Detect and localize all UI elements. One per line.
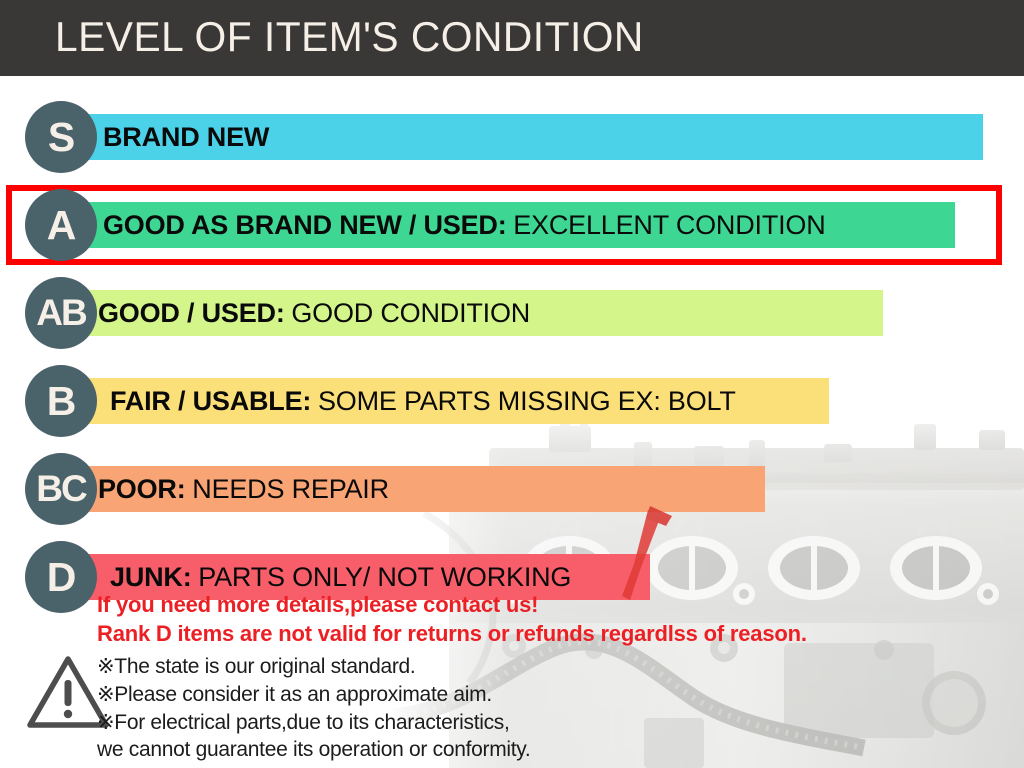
- disclaimer-line-2: ※Please consider it as an approximate ai…: [97, 682, 492, 707]
- page-title: LEVEL OF ITEM'S CONDITION: [55, 13, 644, 61]
- rank-label-b: FAIR / USABLE:SOME PARTS MISSING EX: BOL…: [110, 378, 736, 424]
- header-bar: LEVEL OF ITEM'S CONDITION: [0, 0, 1024, 76]
- contact-note-line-2: Rank D items are not valid for returns o…: [97, 621, 807, 647]
- rank-row-b[interactable]: B FAIR / USABLE:SOME PARTS MISSING EX: B…: [0, 365, 1024, 437]
- rank-label-s: BRAND NEW: [103, 114, 276, 160]
- rank-badge-bc: BC: [25, 453, 97, 525]
- rank-row-s[interactable]: S BRAND NEW: [0, 101, 1024, 173]
- rank-rest-a: EXCELLENT CONDITION: [513, 210, 825, 241]
- rank-label-bc: POOR:NEEDS REPAIR: [98, 466, 389, 512]
- footer-notes: If you need more details,please contact …: [0, 592, 1024, 768]
- rank-lead-s: BRAND NEW: [103, 122, 269, 153]
- rank-row-ab[interactable]: AB GOOD / USED:GOOD CONDITION: [0, 277, 1024, 349]
- contact-note-line-1: If you need more details,please contact …: [97, 592, 538, 618]
- rank-badge-b: B: [25, 365, 97, 437]
- disclaimer-line-3: ※For electrical parts,due to its charact…: [97, 710, 510, 735]
- rank-rest-ab: GOOD CONDITION: [291, 298, 530, 329]
- rank-rest-bc: NEEDS REPAIR: [192, 474, 389, 505]
- rank-lead-ab: GOOD / USED:: [98, 298, 285, 329]
- rank-label-ab: GOOD / USED:GOOD CONDITION: [98, 290, 530, 336]
- rank-row-a[interactable]: A GOOD AS BRAND NEW / USED:EXCELLENT CON…: [0, 189, 1024, 261]
- rank-row-bc[interactable]: BC POOR:NEEDS REPAIR: [0, 453, 1024, 525]
- disclaimer-line-1: ※The state is our original standard.: [97, 654, 415, 679]
- rank-rest-b: SOME PARTS MISSING EX: BOLT: [318, 386, 736, 417]
- rank-lead-d: JUNK:: [110, 562, 192, 593]
- rank-badge-ab: AB: [25, 277, 97, 349]
- rank-lead-bc: POOR:: [98, 474, 186, 505]
- rank-lead-a: GOOD AS BRAND NEW / USED:: [103, 210, 507, 241]
- disclaimer-line-4: we cannot guarantee its operation or con…: [97, 738, 530, 762]
- rank-lead-b: FAIR / USABLE:: [110, 386, 311, 417]
- rank-rest-d: PARTS ONLY/ NOT WORKING: [198, 562, 571, 593]
- rank-badge-a: A: [25, 189, 97, 261]
- rank-badge-s: S: [25, 101, 97, 173]
- rank-label-a: GOOD AS BRAND NEW / USED:EXCELLENT CONDI…: [103, 202, 826, 248]
